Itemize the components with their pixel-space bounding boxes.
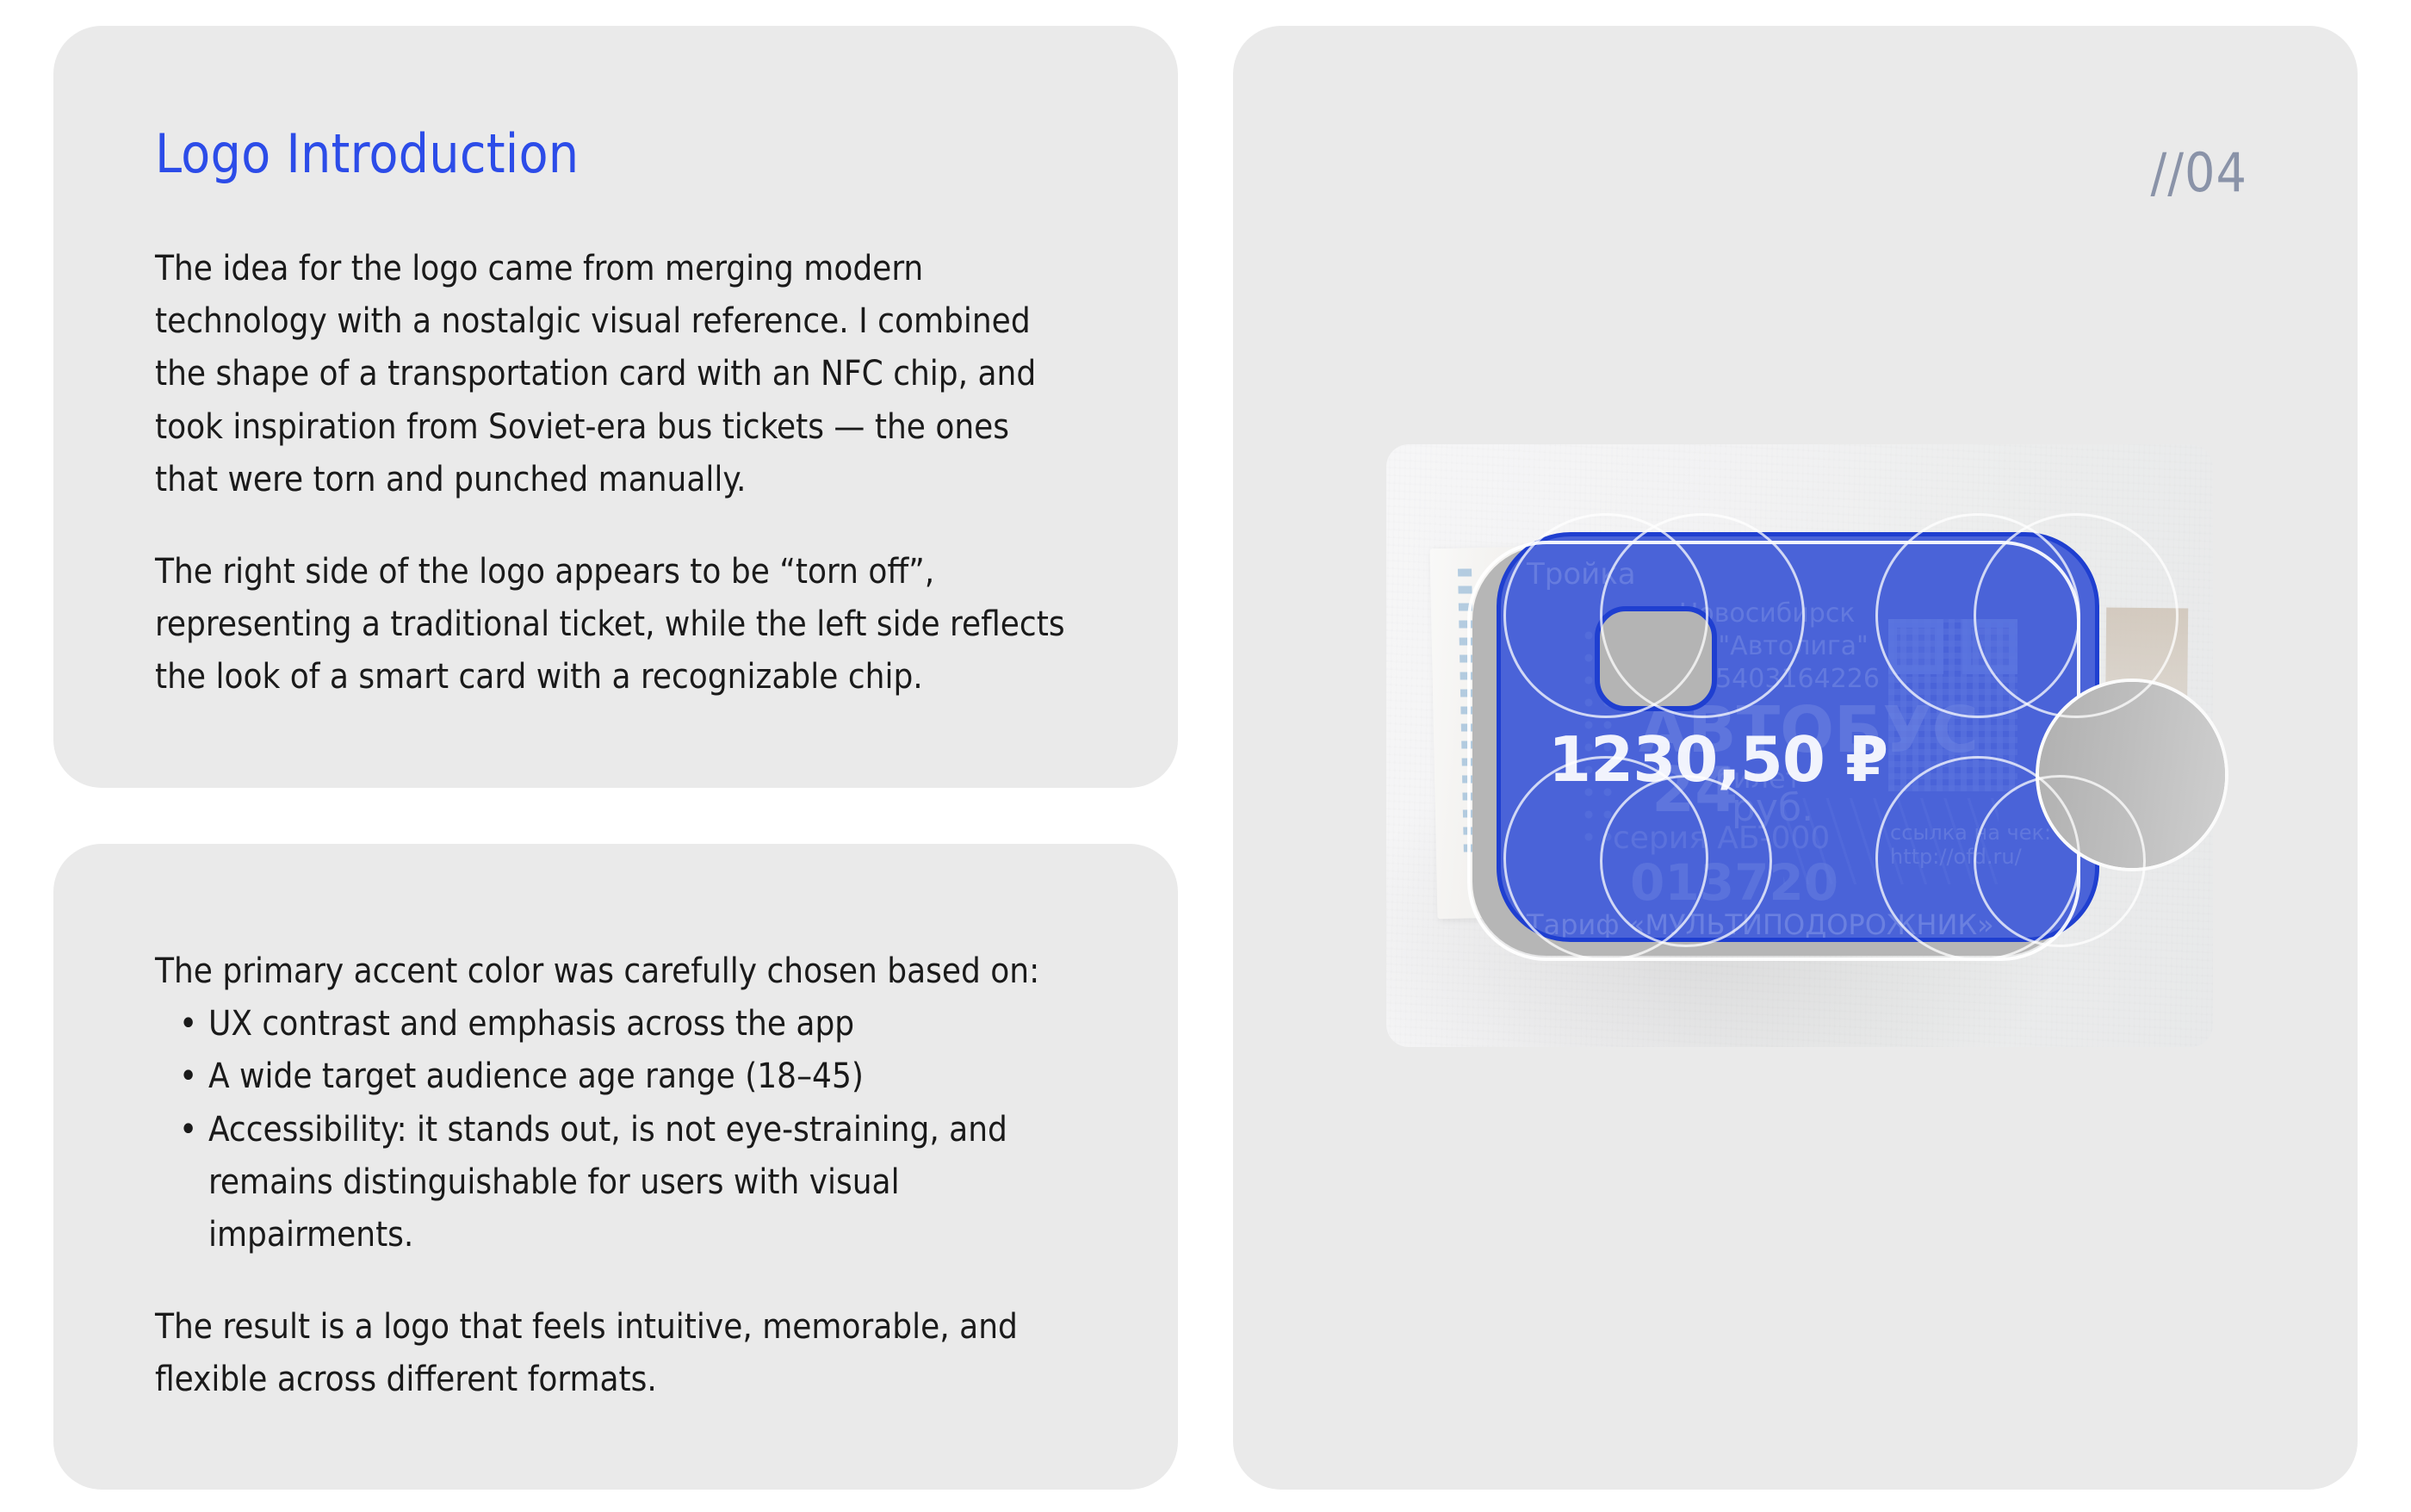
nfc-chip-shape [1595, 606, 1717, 711]
logo-blue-shape-wrapper: Тройка г. Новосибирск ООО "Автолига" ИНН… [1497, 532, 2099, 942]
ticket-handwriting-marks [1783, 798, 1999, 884]
ticket-brand-label: Тройка [1527, 557, 1636, 592]
list-item: Accessibility: it stands out, is not eye… [155, 1104, 1082, 1262]
accent-color-rationale-card: The primary accent color was carefully c… [53, 844, 1178, 1490]
color-rationale-lead: The primary accent color was carefully c… [155, 945, 1082, 998]
list-item: A wide target audience age range (18–45) [155, 1050, 1082, 1103]
logo-construction-stage: Тройка г. Новосибирск ООО "Автолига" ИНН… [1472, 546, 2075, 956]
logo-mockup-panel: //04 Тройка г. Новосибирск ООО "Автолига… [1233, 26, 2358, 1490]
intro-paragraph-1: The idea for the logo came from merging … [155, 243, 1082, 506]
ticket-tariff-label: Тариф «МУЛЬТИПОДОРОЖНИК» [1527, 908, 1994, 941]
card-balance-amount: 1230,50 ₽ [1548, 723, 1887, 796]
color-rationale-closing: The result is a logo that feels intuitiv… [155, 1301, 1082, 1406]
slide-number-marker: //04 [2150, 146, 2247, 200]
left-column: Logo Introduction The idea for the logo … [53, 26, 1178, 1490]
notch-photo-fill [2039, 682, 2225, 868]
intro-paragraph-2: The right side of the logo appears to be… [155, 546, 1082, 704]
list-item: UX contrast and emphasis across the app [155, 998, 1082, 1050]
logo-introduction-card: Logo Introduction The idea for the logo … [53, 26, 1178, 788]
torn-notch-circle [2036, 679, 2228, 871]
qr-code-icon [1888, 619, 2017, 791]
color-rationale-bullet-list: UX contrast and emphasis across the app … [155, 998, 1082, 1261]
page-title: Logo Introduction [155, 127, 1082, 181]
